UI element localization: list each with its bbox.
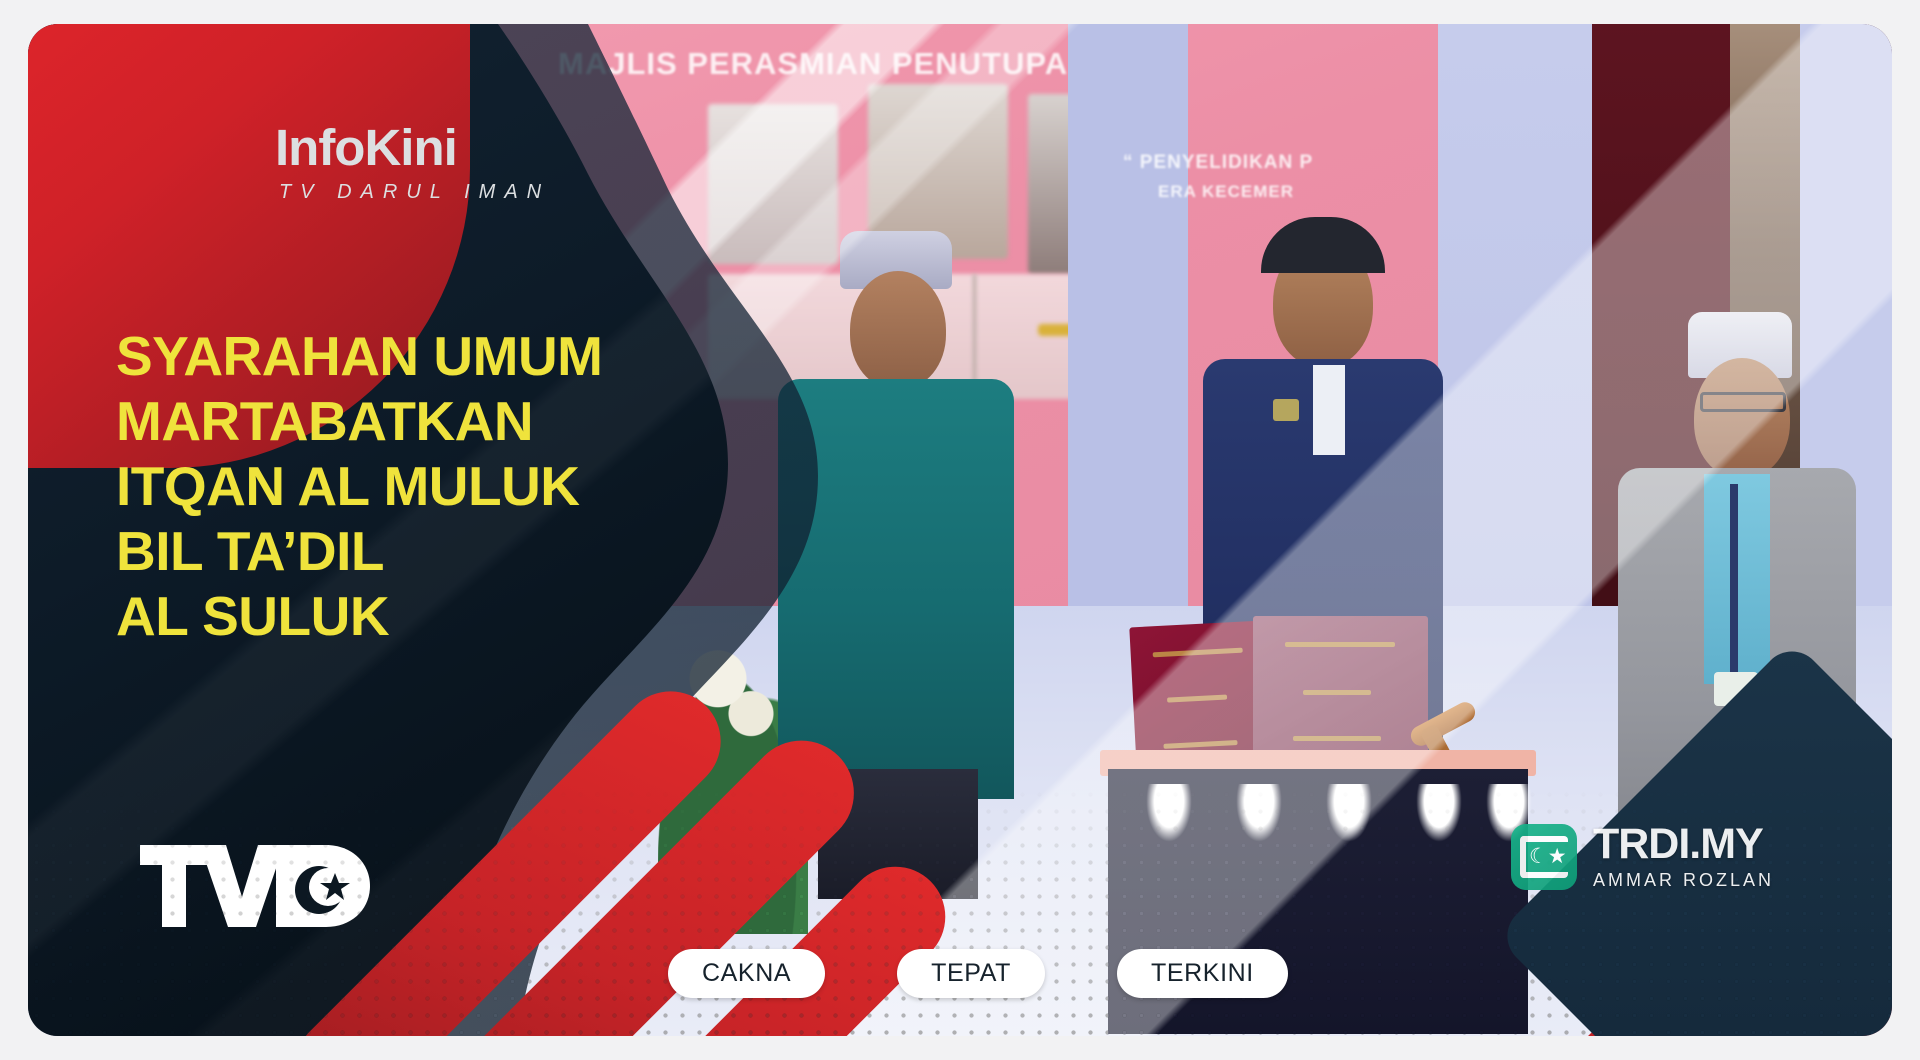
brand-lockup: InfoKini TV DARUL IMAN (275, 122, 550, 204)
tag-row: CAKNA TEPAT TERKINI (668, 949, 1288, 998)
headline-line-4: BIL TA’DIL (116, 519, 756, 584)
tag-cakna[interactable]: CAKNA (668, 949, 825, 998)
trdi-watermark-text: TRDI.MY AMMAR ROZLAN (1593, 823, 1774, 891)
brand-tagline: TV DARUL IMAN (279, 181, 550, 204)
brand-name: InfoKini (275, 122, 550, 173)
tvdi-logo-icon (138, 839, 373, 933)
trdi-watermark-subtitle: AMMAR ROZLAN (1593, 870, 1774, 891)
tvdi-logo (138, 839, 373, 933)
crescent-star-icon: ☾★ (1529, 846, 1567, 867)
headline-line-2: MARTABATKAN (116, 389, 756, 454)
poster-root: MAJLIS PERASMIAN PENUTUPA ENUTUP “ PENYE… (0, 0, 1920, 1060)
trdi-app-icon: ☾★ (1511, 824, 1577, 890)
tag-tepat[interactable]: TEPAT (897, 949, 1045, 998)
headline-line-5: AL SULUK (116, 584, 756, 649)
headline-line-3: ITQAN AL MULUK (116, 454, 756, 519)
page-title: SYARAHAN UMUM MARTABATKAN ITQAN AL MULUK… (116, 324, 756, 648)
tag-terkini[interactable]: TERKINI (1117, 949, 1288, 998)
poster-canvas: MAJLIS PERASMIAN PENUTUPA ENUTUP “ PENYE… (28, 24, 1892, 1036)
trdi-watermark-title: TRDI.MY (1593, 823, 1774, 866)
headline-line-1: SYARAHAN UMUM (116, 324, 756, 389)
trdi-watermark: ☾★ TRDI.MY AMMAR ROZLAN (1511, 823, 1774, 891)
